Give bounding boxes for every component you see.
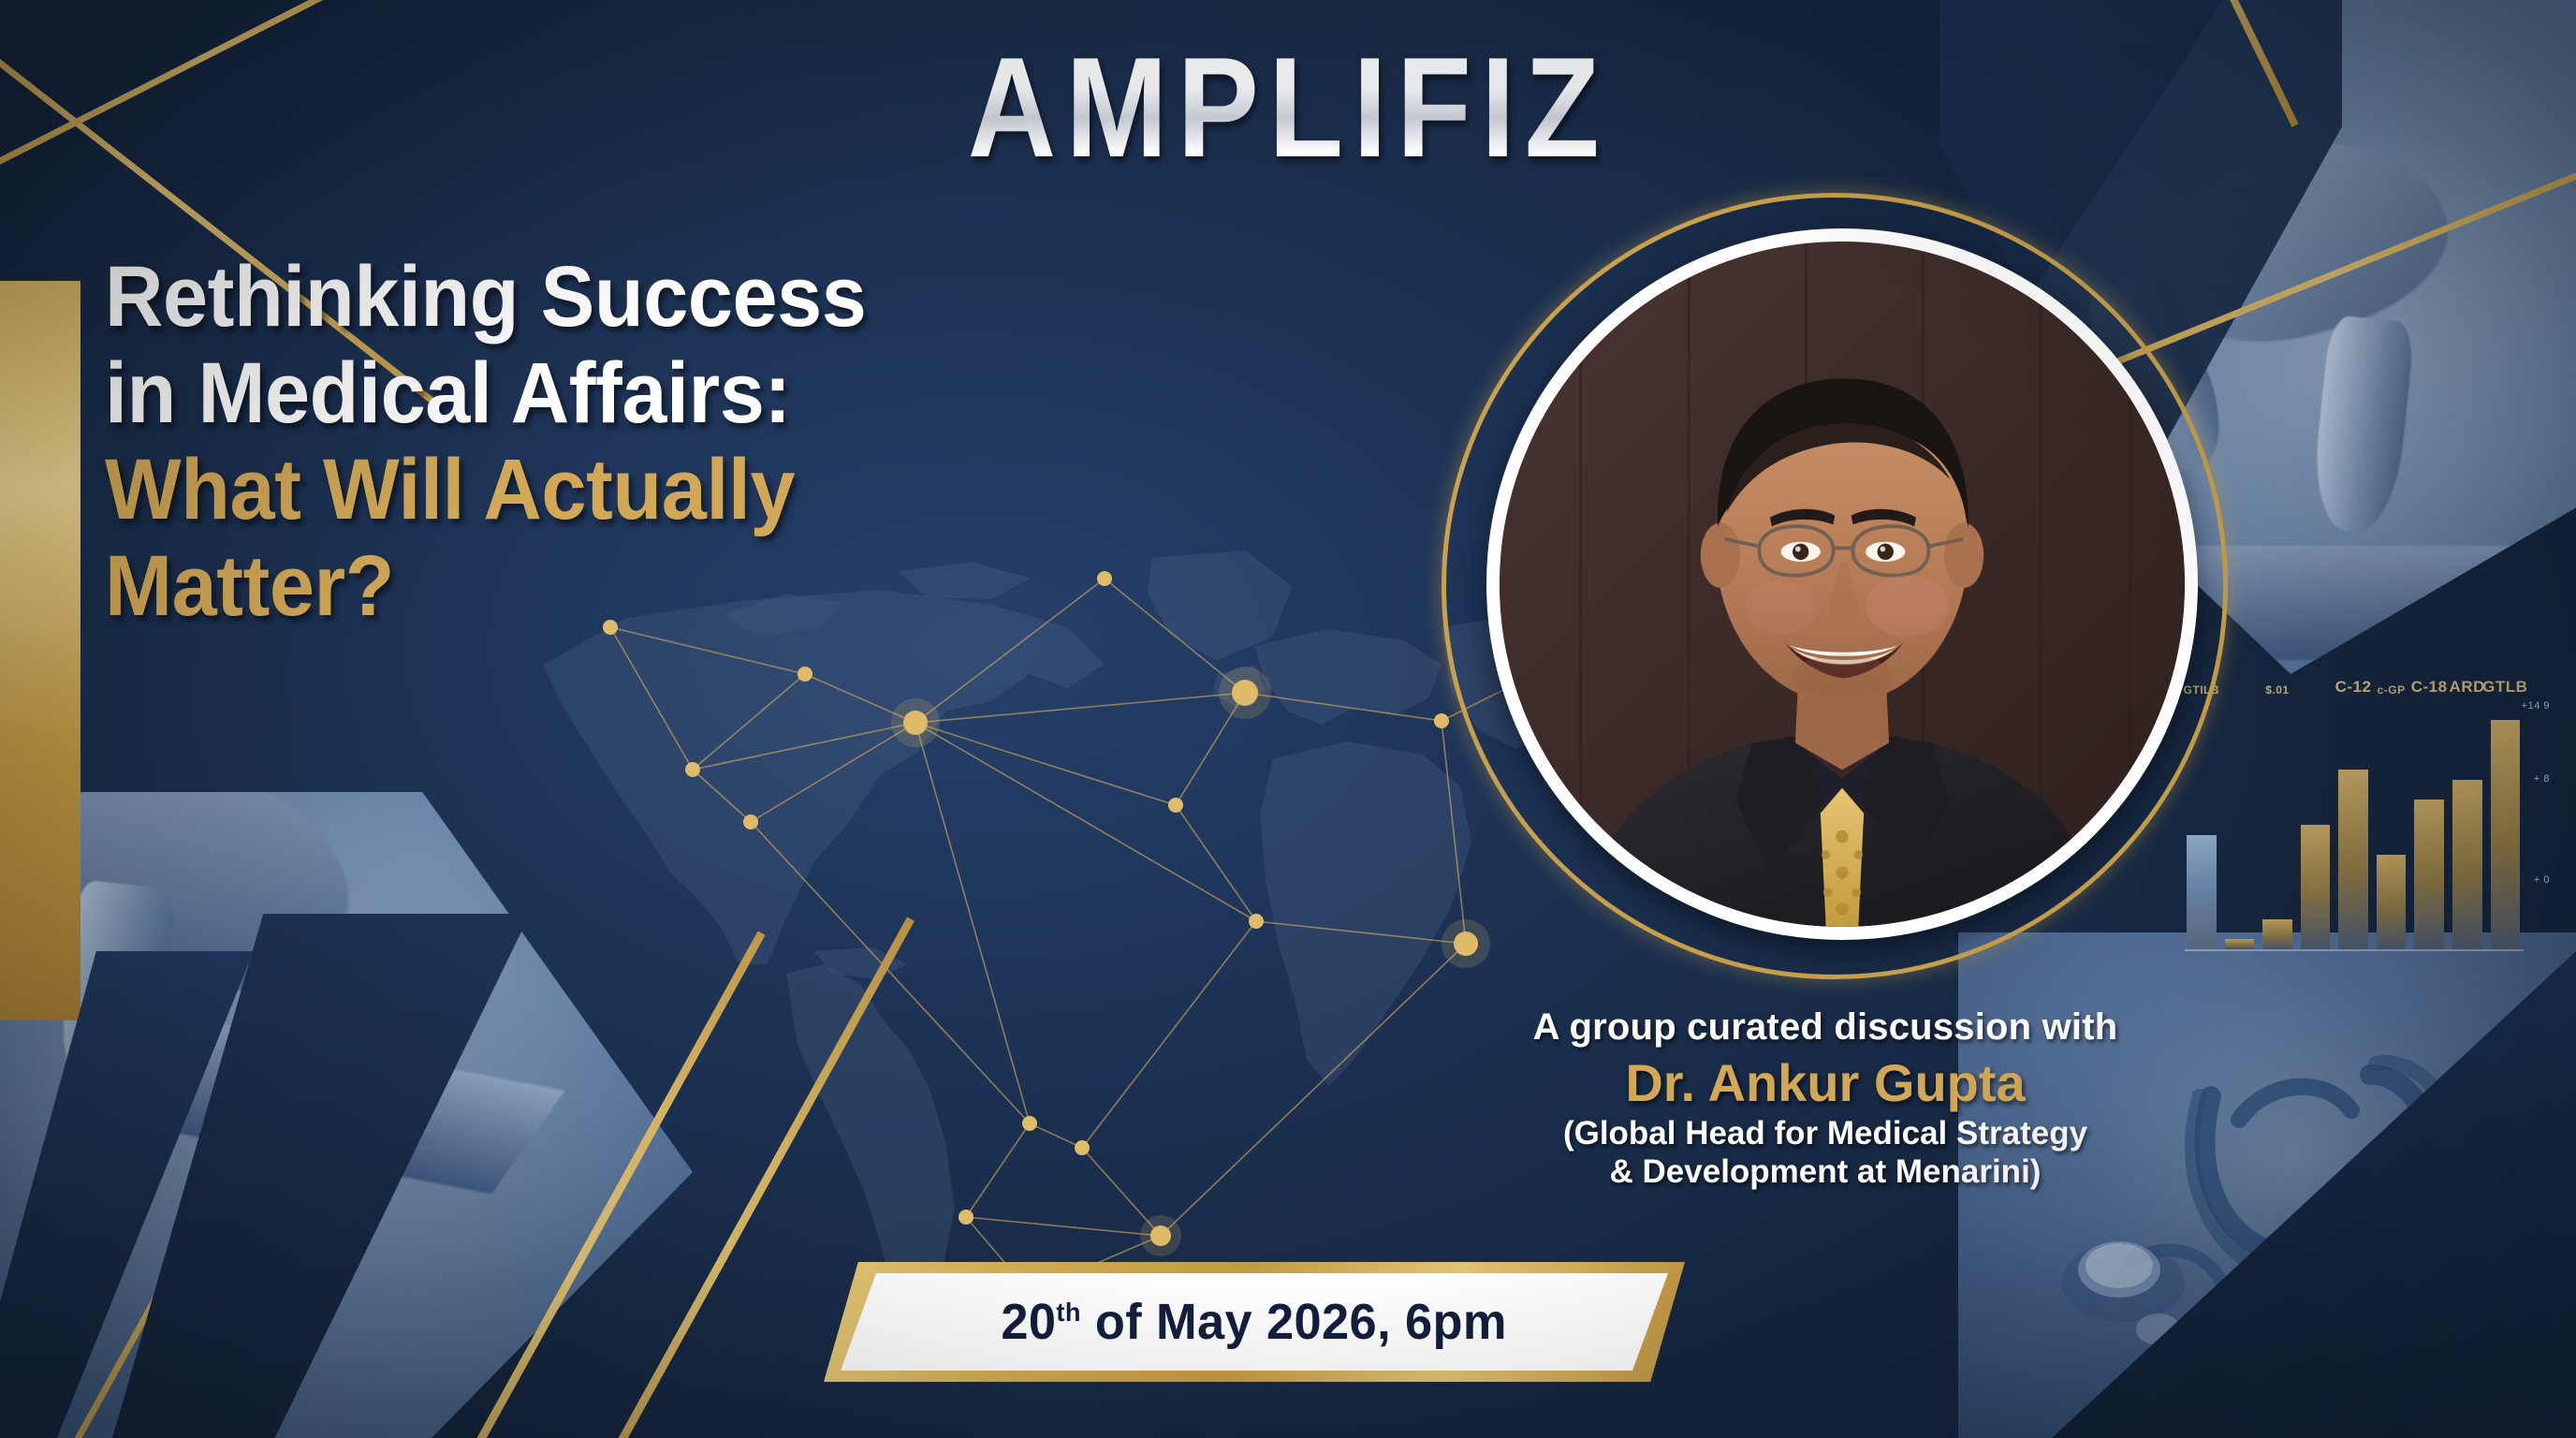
chart-bar [2452,780,2482,949]
speaker-credit: A group curated discussion with Dr. Anku… [1442,1006,2209,1191]
headline-line-2: in Medical Affairs: [105,345,1178,442]
date-banner-surface: 20th of May 2026, 6pm [841,1273,1668,1371]
brand-logo-text: AMPLIFIZ [967,26,1608,190]
chart-bar-column [2301,700,2331,949]
chart-bar-column: GTLB [2491,700,2521,949]
chart-ytick-1: + 8 [2534,773,2550,785]
date-banner: 20th of May 2026, 6pm [824,1262,1685,1382]
chart-bar [2491,720,2521,949]
event-date-day: 20 [1002,1294,1057,1350]
event-date-text: 20th of May 2026, 6pm [1002,1293,1507,1351]
event-banner: AMPLIFIZ Rethinking Success in Medical A… [0,0,2576,1438]
chart-bar [2338,770,2368,949]
chart-bar-label: C-12 [2335,678,2372,697]
chart-bar [2301,825,2331,949]
portrait-white-ring [1486,228,2198,940]
chart-ytick-2: + 0 [2534,874,2550,886]
brand-logo: AMPLIFIZ [0,26,2576,190]
chart-bar-column: C-12 [2338,700,2368,949]
speaker-intro-text: A group curated discussion with [1442,1006,2209,1049]
avatar [1500,242,2185,927]
chart-bar [2414,800,2444,949]
chart-bar-column: $.01 [2262,700,2292,949]
headline-line-3: What Will Actually [105,442,1178,538]
chart-ytick-0: +14 9 [2522,700,2550,712]
speaker-role-line-2: & Development at Menarini) [1442,1153,2209,1192]
speaker-name: Dr. Ankur Gupta [1442,1052,2209,1113]
speaker-portrait [1432,183,2237,989]
event-date-ordinal: th [1057,1298,1081,1327]
chart-bar-column: c-GP [2377,700,2407,949]
chart-bar-column: ARD [2452,700,2482,949]
speaker-role-line-1: (Global Head for Medical Strategy [1442,1115,2209,1153]
event-date-rest: of May 2026, 6pm [1081,1294,1507,1350]
chart-bar-label: $.01 [2265,683,2289,697]
chart-bar-label: ARD [2450,678,2485,697]
speaker-role: (Global Head for Medical Strategy & Deve… [1442,1115,2209,1191]
chart-bar-label: c-GP [2378,683,2406,697]
headline-line-4: Matter? [105,538,1178,635]
chart-bar [2262,919,2292,949]
chart-bar-label: GTLB [2482,678,2527,697]
chart-bar-label: C-18 [2411,678,2448,697]
page-title: Rethinking Success in Medical Affairs: W… [105,249,1247,635]
chart-bar-column: C-18 [2414,700,2444,949]
gold-bar-left-edge [0,281,80,1020]
headline-line-1: Rethinking Success [105,249,1178,345]
chart-bar [2377,855,2407,949]
